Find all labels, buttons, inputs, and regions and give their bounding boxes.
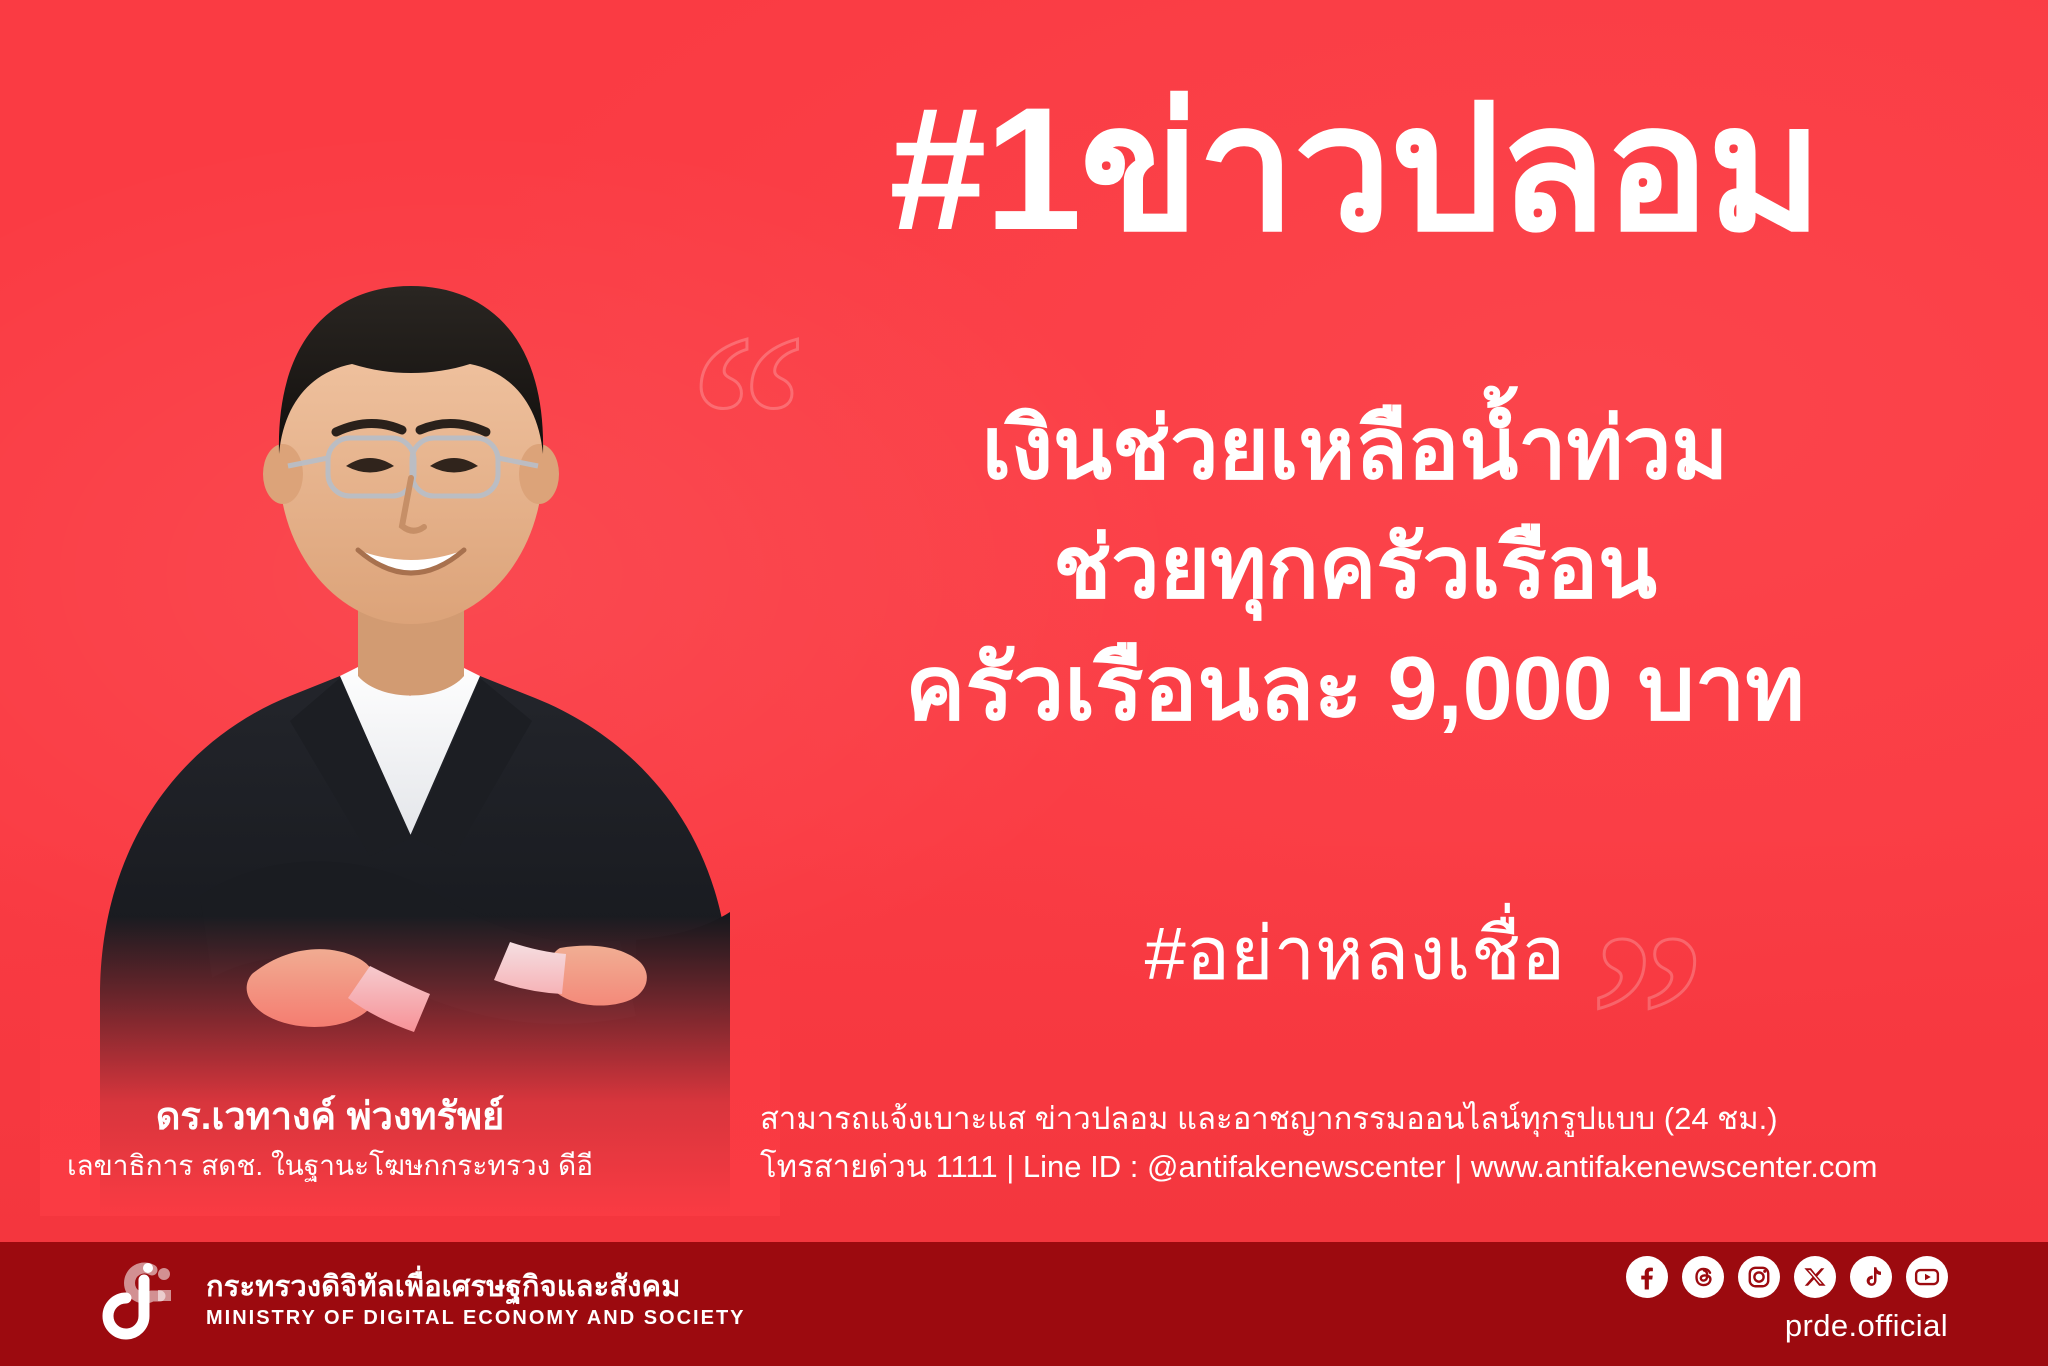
subheading-line-1: เงินช่วยเหลือน้ำท่วม: [700, 390, 2010, 509]
threads-icon[interactable]: [1682, 1256, 1724, 1298]
subheading-line-2: ช่วยทุกครัวเรือน: [700, 509, 2010, 628]
ministry-name-thai: กระทรวงดิจิทัลเพื่อเศรษฐกิจและสังคม: [206, 1269, 746, 1305]
poster-canvas: “ ”: [0, 0, 2048, 1366]
social-handle[interactable]: prde.official: [1626, 1308, 1948, 1344]
hashtag-warning: #อย่าหลงเชื่อ: [700, 910, 2010, 999]
speaker-title: เลขาธิการ สดช. ในฐานะโฆษกกระทรวง ดีอี: [0, 1145, 660, 1187]
contact-line-2[interactable]: โทรสายด่วน 1111 | Line ID : @antifakenew…: [760, 1143, 2030, 1191]
social-icon-row: [1626, 1256, 1948, 1298]
spokesperson-portrait: [40, 136, 780, 1216]
instagram-icon[interactable]: [1738, 1256, 1780, 1298]
subheading-line-3: ครัวเรือนละ 9,000 บาท: [700, 627, 2010, 751]
footer-bar: กระทรวงดิจิทัลเพื่อเศรษฐกิจและสังคม MINI…: [0, 1242, 2048, 1366]
contact-line-1: สามารถแจ้งเบาะแส ข่าวปลอม และอาชญากรรมออ…: [760, 1095, 2030, 1143]
speaker-credit: ดร.เวทางค์ พ่วงทรัพย์ เลขาธิการ สดช. ในฐ…: [0, 1090, 660, 1187]
ministry-logo-icon: [100, 1254, 186, 1346]
page-title: #1ข่าวปลอม: [700, 78, 2010, 262]
youtube-icon[interactable]: [1906, 1256, 1948, 1298]
tiktok-icon[interactable]: [1850, 1256, 1892, 1298]
facebook-icon[interactable]: [1626, 1256, 1668, 1298]
speaker-name: ดร.เวทางค์ พ่วงทรัพย์: [0, 1090, 660, 1145]
subheading-block: เงินช่วยเหลือน้ำท่วม ช่วยทุกครัวเรือน คร…: [700, 390, 2010, 752]
x-twitter-icon[interactable]: [1794, 1256, 1836, 1298]
ministry-brand: กระทรวงดิจิทัลเพื่อเศรษฐกิจและสังคม MINI…: [100, 1254, 746, 1346]
ministry-name-english: MINISTRY OF DIGITAL ECONOMY AND SOCIETY: [206, 1305, 746, 1331]
contact-block: สามารถแจ้งเบาะแส ข่าวปลอม และอาชญากรรมออ…: [760, 1095, 2030, 1191]
social-links: prde.official: [1626, 1256, 1948, 1344]
